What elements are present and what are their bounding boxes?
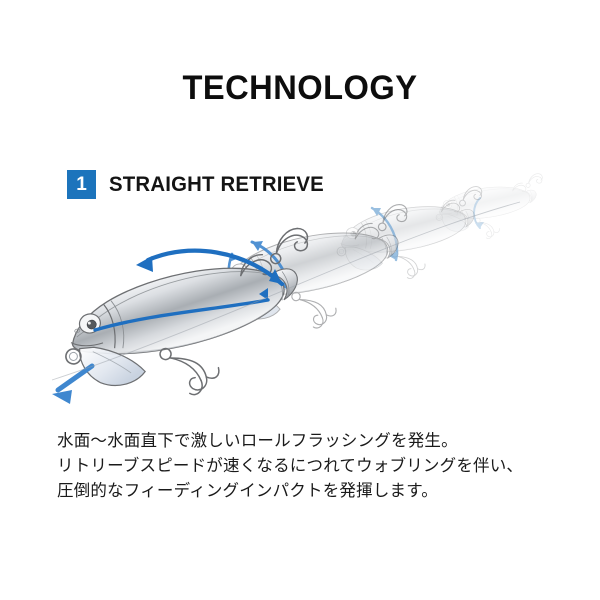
caption-line-3: 圧倒的なフィーディングインパクトを発揮します。 — [57, 478, 557, 503]
lure-illustration-svg — [0, 150, 600, 420]
caption-line-1: 水面〜水面直下で激しいロールフラッシングを発生。 — [57, 428, 557, 453]
caption-line-2: リトリーブスピードが速くなるにつれてウォブリングを伴い、 — [57, 453, 557, 478]
dive-arrow-main — [52, 366, 92, 404]
caption-block: 水面〜水面直下で激しいロールフラッシングを発生。 リトリーブスピードが速くなるに… — [57, 428, 557, 503]
page-title: TECHNOLOGY — [12, 68, 588, 108]
lure-illustration — [0, 150, 600, 420]
technology-infographic-page: TECHNOLOGY 1 STRAIGHT RETRIEVE — [0, 0, 600, 600]
